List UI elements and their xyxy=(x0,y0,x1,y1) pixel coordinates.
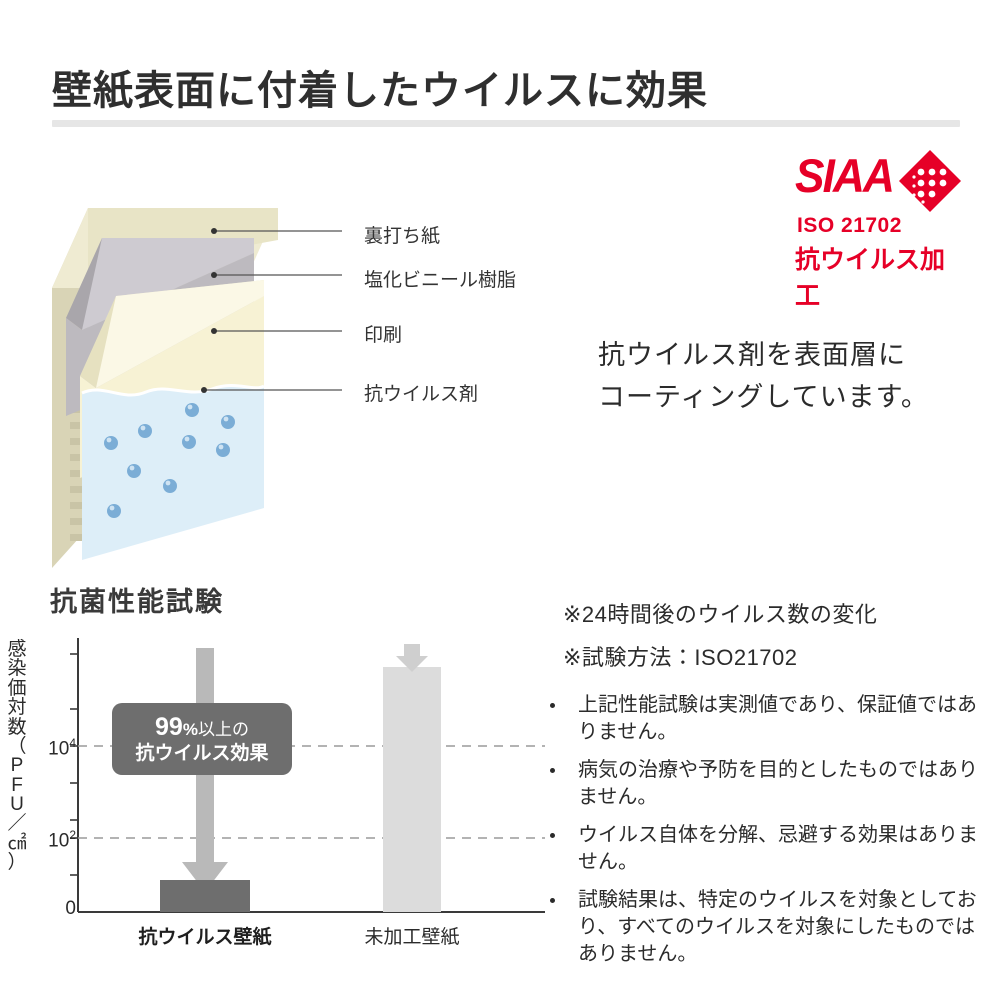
diagram-label-vinyl-resin: 塩化ビニール樹脂 xyxy=(364,265,516,292)
list-item: 病気の治療や予防を目的としたものではありません。 xyxy=(542,757,994,811)
bar-antiviral-wallpaper xyxy=(160,880,250,912)
coating-description: 抗ウイルス剤を表面層にコーティングしています。 xyxy=(598,335,978,419)
bullet-dot-icon xyxy=(550,768,555,773)
diagram-label-antiviral-agent: 抗ウイルス剤 xyxy=(364,379,478,406)
diagram-label-backing-paper: 裏打ち紙 xyxy=(364,221,440,248)
title-divider xyxy=(52,120,960,127)
disclaimer-list: 上記性能試験は実測値であり、保証値ではありません。 病気の治療や予防を目的とした… xyxy=(542,692,994,979)
list-item-text: ウイルス自体を分解、忌避する効果はありません。 xyxy=(578,824,978,873)
y-tick-10e4: 104 xyxy=(28,736,76,760)
wallpaper-cross-section-diagram xyxy=(42,178,342,568)
callout-line-1: 99%以上の xyxy=(155,713,249,743)
callout-percent: % xyxy=(183,720,198,739)
list-item: 試験結果は、特定のウイルスを対象としており、すべてのウイルスを対象にしたものでは… xyxy=(542,887,994,968)
note-test-method: ※試験方法：ISO21702 xyxy=(563,640,798,672)
siaa-iso-text: ISO 21702 xyxy=(797,214,902,238)
list-item-text: 病気の治療や予防を目的としたものではありません。 xyxy=(578,759,978,808)
x-category-untreated-wallpaper: 未加工壁紙 xyxy=(342,922,482,949)
siaa-diamond-icon xyxy=(899,150,961,212)
callout-suffix: 以上の xyxy=(198,720,249,739)
layer-antiviral-agent xyxy=(82,386,264,560)
siaa-mark: SIAA xyxy=(795,152,960,214)
page-title: 壁紙表面に付着したウイルスに効果 xyxy=(52,58,708,116)
siaa-jp-text: 抗ウイルス加工 xyxy=(795,240,960,312)
list-item: 上記性能試験は実測値であり、保証値ではありません。 xyxy=(542,692,994,746)
list-item-text: 上記性能試験は実測値であり、保証値ではありません。 xyxy=(578,694,977,743)
bullet-dot-icon xyxy=(550,703,555,708)
callout-number: 99 xyxy=(155,713,183,741)
bullet-dot-icon xyxy=(550,898,555,903)
note-virus-change: ※24時間後のウイルス数の変化 xyxy=(563,597,877,629)
bullet-dot-icon xyxy=(550,833,555,838)
siaa-logo: SIAA ISO 21702 抗ウイルス加工 xyxy=(795,152,960,274)
list-item: ウイルス自体を分解、忌避する効果はありません。 xyxy=(542,822,994,876)
siaa-wordmark: SIAA xyxy=(795,148,893,203)
poster-page: 壁紙表面に付着したウイルスに効果 SIAA ISO 21702 抗ウイルス加工 xyxy=(0,0,1000,1000)
effect-callout-badge: 99%以上の 抗ウイルス効果 xyxy=(112,703,292,775)
x-category-antiviral-wallpaper: 抗ウイルス壁紙 xyxy=(125,922,285,949)
y-tick-10e2: 102 xyxy=(28,828,76,852)
diagram-label-print: 印刷 xyxy=(364,320,402,347)
y-tick-0: 0 xyxy=(28,898,76,920)
chart-title: 抗菌性能試験 xyxy=(50,580,224,619)
antibacterial-performance-bar-chart xyxy=(0,630,560,950)
callout-line-2: 抗ウイルス効果 xyxy=(135,743,268,765)
bar-untreated-wallpaper xyxy=(383,667,441,912)
list-item-text: 試験結果は、特定のウイルスを対象としており、すべてのウイルスを対象にしたものでは… xyxy=(578,889,977,965)
